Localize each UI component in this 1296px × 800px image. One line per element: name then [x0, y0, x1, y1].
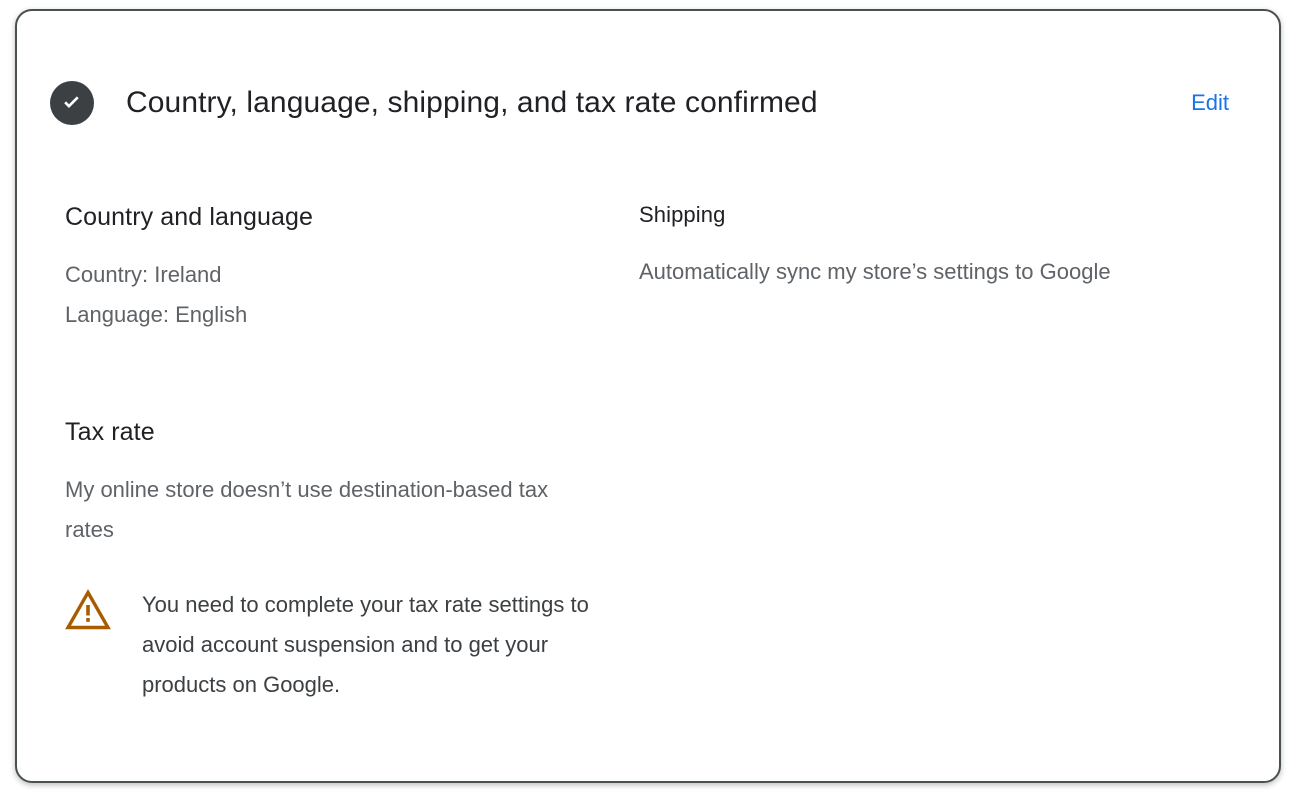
edit-button[interactable]: Edit: [1191, 89, 1246, 117]
confirmation-card: Country, language, shipping, and tax rat…: [15, 9, 1281, 783]
shipping-section: Shipping Automatically sync my store’s s…: [639, 201, 1279, 335]
country-language-section: Country and language Country: Ireland La…: [17, 201, 639, 335]
card-header: Country, language, shipping, and tax rat…: [50, 81, 1246, 125]
shipping-heading: Shipping: [639, 201, 1279, 229]
warning-triangle-icon: [65, 589, 111, 631]
tax-rate-heading: Tax rate: [65, 416, 645, 448]
details-columns: Country and language Country: Ireland La…: [17, 201, 1279, 335]
shipping-description: Automatically sync my store’s settings t…: [639, 251, 1179, 292]
tax-rate-description: My online store doesn’t use destination-…: [65, 470, 585, 550]
card-content: Country, language, shipping, and tax rat…: [17, 11, 1279, 781]
page-title: Country, language, shipping, and tax rat…: [126, 84, 818, 122]
country-language-heading: Country and language: [65, 201, 639, 233]
check-circle-icon: [50, 81, 94, 125]
tax-rate-section: Tax rate My online store doesn’t use des…: [65, 416, 645, 705]
tax-rate-warning-text: You need to complete your tax rate setti…: [142, 585, 632, 705]
tax-rate-warning: You need to complete your tax rate setti…: [65, 585, 645, 705]
country-value: Country: Ireland: [65, 255, 639, 295]
language-value: Language: English: [65, 295, 639, 335]
